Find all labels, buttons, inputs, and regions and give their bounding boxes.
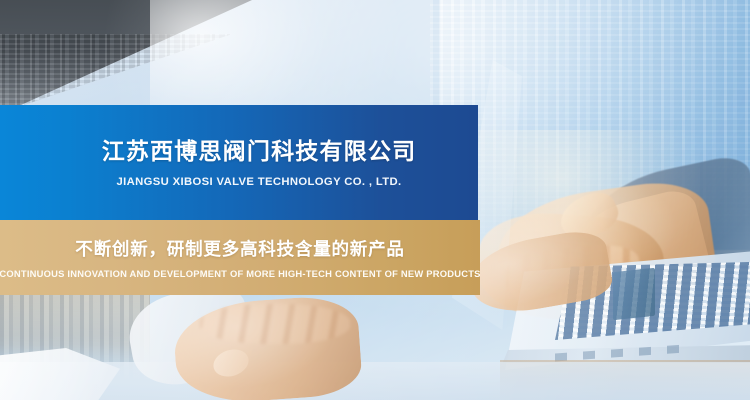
slogan-chinese: 不断创新，研制更多高科技含量的新产品 — [75, 236, 404, 261]
hand-knuckles — [200, 304, 350, 344]
slogan-english: CONTINUOUS INNOVATION AND DEVELOPMENT OF… — [0, 268, 481, 279]
hero-banner-image: 江苏西博思阀门科技有限公司 JIANGSU XIBOSI VALVE TECHN… — [0, 0, 750, 400]
company-name-chinese: 江苏西博思阀门科技有限公司 — [102, 137, 417, 166]
laptop-keypad-block — [613, 268, 655, 320]
slogan-banner: 不断创新，研制更多高科技含量的新产品 CONTINUOUS INNOVATION… — [0, 220, 480, 295]
company-name-banner: 江苏西博思阀门科技有限公司 JIANGSU XIBOSI VALVE TECHN… — [0, 105, 478, 220]
company-name-english: JIANGSU XIBOSI VALVE TECHNOLOGY CO. , LT… — [116, 176, 401, 188]
